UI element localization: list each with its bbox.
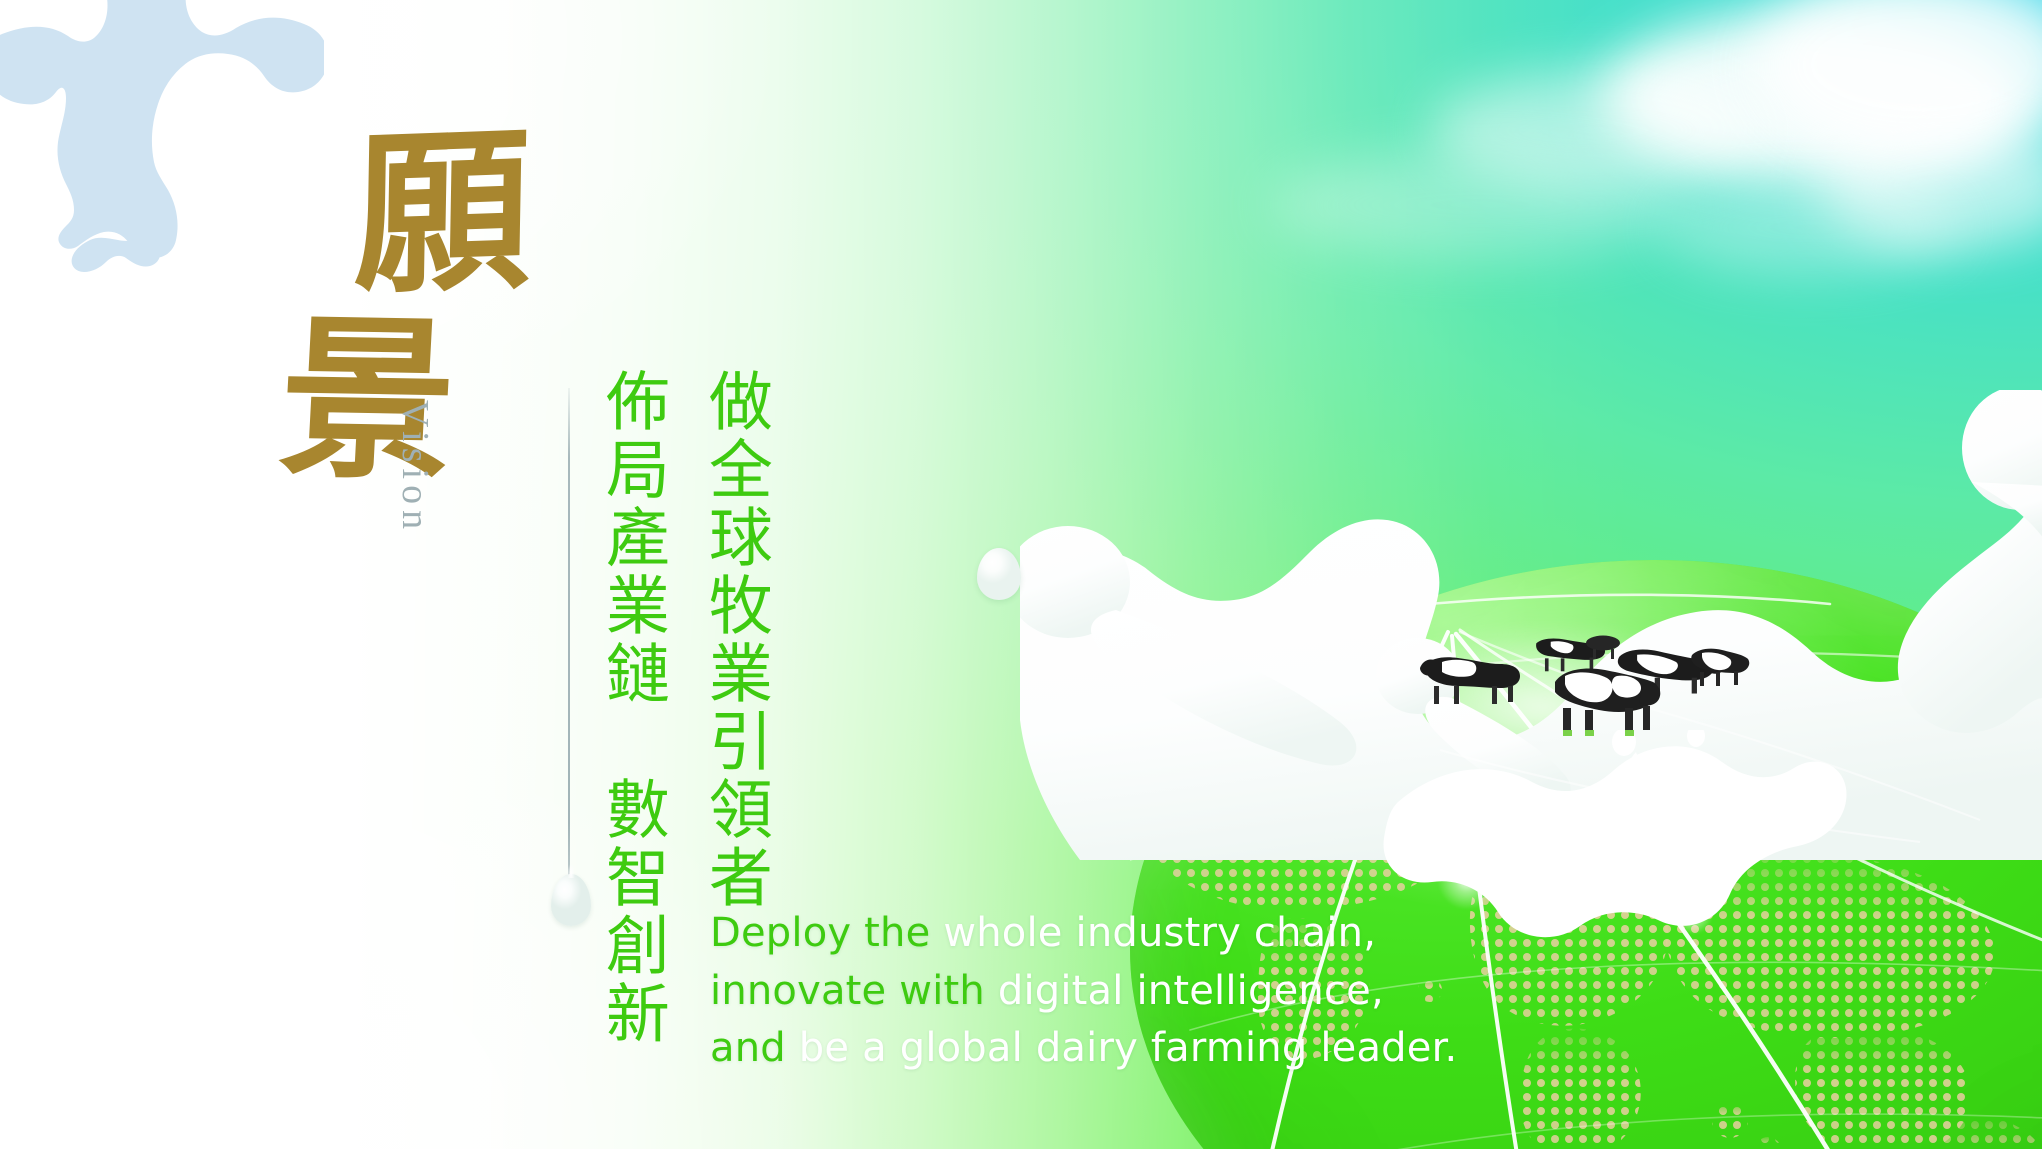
cloud-icon — [1270, 150, 1690, 260]
cow-head-icon — [0, 0, 324, 297]
english-slogan-line-2: innovate with digital intelligence, — [710, 963, 1457, 1021]
vision-banner: 願 景 Vision 佈局產業鏈 數智創新 做全球牧業引領者 Deploy th… — [0, 0, 2042, 1149]
grazing-cow-icon — [1690, 645, 1750, 690]
english-slogan-line-1: Deploy the whole industry chain, — [710, 905, 1457, 963]
english-slogan: Deploy the whole industry chain, innovat… — [710, 905, 1457, 1078]
english-line3-rest: be a global dairy farming leader. — [799, 1025, 1458, 1071]
english-line1-rest: whole industry chain, — [943, 910, 1376, 956]
english-slogan-line-3: and be a global dairy farming leader. — [710, 1020, 1457, 1078]
cloud-icon — [1660, 180, 1960, 275]
english-line2-rest: digital intelligence, — [998, 968, 1384, 1014]
english-line2-highlight: innovate with — [710, 968, 998, 1014]
slogan-column-right: 做全球牧業引領者 — [700, 368, 768, 912]
title-char-1: 願 — [353, 125, 531, 303]
vision-subtitle: Vision — [393, 400, 437, 535]
english-line1-highlight: Deploy the — [710, 910, 943, 956]
milk-drop-icon — [977, 548, 1021, 600]
english-line3-highlight: and — [710, 1025, 799, 1071]
slogan-column-left: 佈局產業鏈 數智創新 — [597, 368, 665, 1048]
vertical-divider — [568, 388, 570, 883]
grazing-cow-icon — [1547, 660, 1662, 740]
